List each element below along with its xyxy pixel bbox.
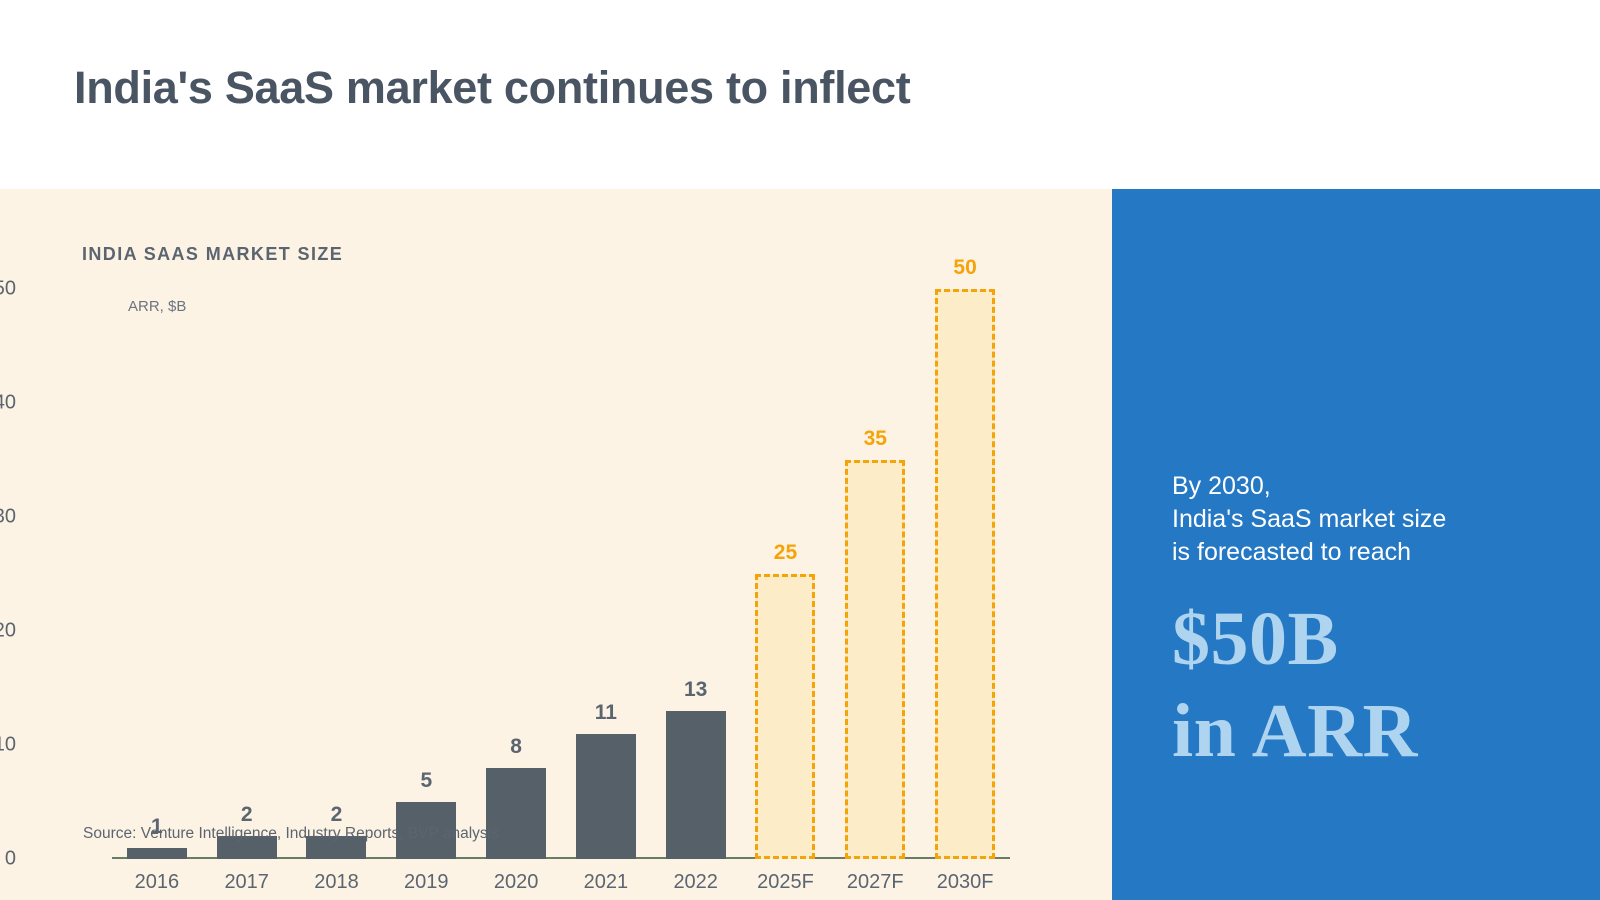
bar-slot: 5	[381, 289, 471, 859]
callout-headline-amount: $50B	[1172, 593, 1418, 685]
source-note: Source: Venture Intelligence, Industry R…	[83, 825, 499, 843]
x-axis-tick-2019: 2019	[381, 871, 471, 894]
bar-slot: 8	[471, 289, 561, 859]
x-axis-tick-2021: 2021	[561, 871, 651, 894]
bar-value-label-2019: 5	[420, 769, 432, 793]
callout-headline: $50B in ARR	[1172, 593, 1418, 777]
page-title: India's SaaS market continues to inflect	[74, 62, 910, 114]
y-axis-tick-0: 0	[5, 848, 16, 871]
y-axis-tick-20: 20	[0, 620, 16, 643]
y-axis-tick-40: 40	[0, 392, 16, 415]
y-axis-tick-50: 50	[0, 278, 16, 301]
bar-value-label-2018: 2	[331, 803, 343, 827]
x-axis-tick-2017: 2017	[202, 871, 292, 894]
bar-2027f[interactable]	[845, 460, 905, 859]
bar-value-label-2020: 8	[510, 735, 522, 759]
bar-2020[interactable]	[486, 768, 546, 859]
bar-slot: 25	[741, 289, 831, 859]
bar-2030f[interactable]	[935, 289, 995, 859]
callout-line-1: By 2030,	[1172, 470, 1446, 503]
y-axis-tick-30: 30	[0, 506, 16, 529]
y-axis: 01020304050	[0, 189, 112, 789]
bar-2016[interactable]	[127, 848, 187, 859]
bar-slot: 35	[830, 289, 920, 859]
bar-slot: 2	[292, 289, 382, 859]
bar-value-label-2025f: 25	[774, 541, 797, 565]
bar-value-label-2030f: 50	[953, 256, 976, 280]
title-bar: India's SaaS market continues to inflect	[0, 0, 1600, 189]
x-axis-tick-2018: 2018	[292, 871, 382, 894]
x-axis-tick-2027f: 2027F	[830, 871, 920, 894]
bar-slot: 2	[202, 289, 292, 859]
bar-2021[interactable]	[576, 734, 636, 859]
callout-panel: By 2030, India's SaaS market size is for…	[1112, 189, 1600, 900]
x-axis-tick-2025f: 2025F	[741, 871, 831, 894]
bar-slot: 13	[651, 289, 741, 859]
chart-subtitle: INDIA SAAS MARKET SIZE	[82, 244, 343, 265]
bar-slot: 11	[561, 289, 651, 859]
callout-headline-unit: in ARR	[1172, 685, 1418, 777]
bar-value-label-2021: 11	[595, 701, 617, 725]
bar-series: 122581113253550	[112, 289, 1010, 859]
x-axis-tick-2022: 2022	[651, 871, 741, 894]
bar-value-label-2027f: 35	[864, 427, 887, 451]
chart-panel: INDIA SAAS MARKET SIZE ARR, $B 010203040…	[0, 189, 1112, 900]
callout-lead-text: By 2030, India's SaaS market size is for…	[1172, 470, 1446, 569]
callout-line-3: is forecasted to reach	[1172, 536, 1446, 569]
bar-slot: 1	[112, 289, 202, 859]
bar-value-label-2022: 13	[684, 678, 707, 702]
callout-line-2: India's SaaS market size	[1172, 503, 1446, 536]
x-axis-tick-2020: 2020	[471, 871, 561, 894]
bar-2025f[interactable]	[755, 574, 815, 859]
bar-slot: 50	[920, 289, 1010, 859]
bar-2022[interactable]	[666, 711, 726, 859]
bar-value-label-2017: 2	[241, 803, 253, 827]
x-axis-tick-2016: 2016	[112, 871, 202, 894]
y-axis-tick-10: 10	[0, 734, 16, 757]
x-axis-tick-2030f: 2030F	[920, 871, 1010, 894]
